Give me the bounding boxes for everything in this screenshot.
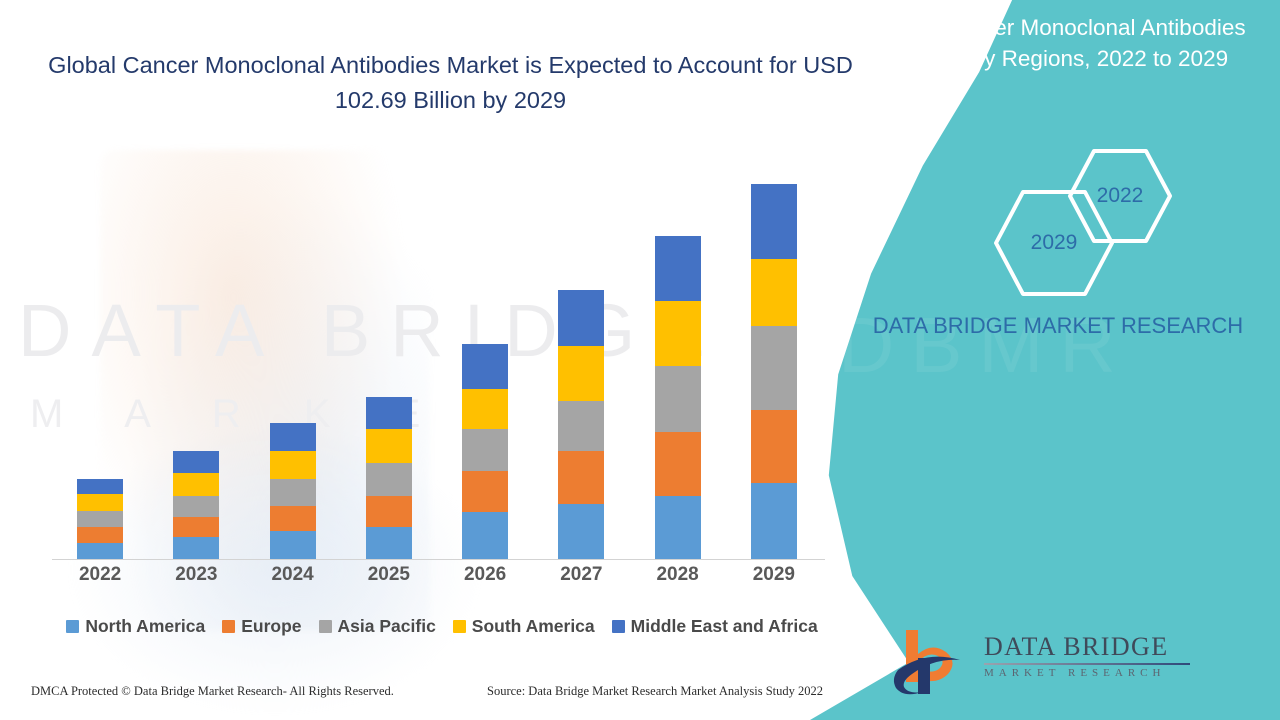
legend-swatch-icon: [612, 620, 625, 633]
hexagon-label-2022: 2022: [1066, 184, 1174, 208]
bar-segment: [270, 506, 316, 531]
chart-legend: North AmericaEuropeAsia PacificSouth Ame…: [52, 616, 832, 637]
bar-segment: [270, 479, 316, 506]
bar-segment: [655, 496, 701, 559]
legend-item[interactable]: South America: [453, 616, 595, 637]
legend-swatch-icon: [222, 620, 235, 633]
bar-segment: [558, 290, 604, 346]
chart-bars: [52, 160, 822, 559]
legend-item[interactable]: Middle East and Africa: [612, 616, 818, 637]
data-bridge-logo: DATA BRIDGE MARKET RESEARCH: [888, 624, 1218, 698]
stacked-bar: [462, 344, 508, 559]
bar-segment: [366, 463, 412, 496]
bar-segment: [462, 389, 508, 429]
bar-segment: [751, 184, 797, 259]
bar-column: [437, 160, 533, 559]
stacked-bar: [655, 236, 701, 559]
bar-segment: [751, 259, 797, 326]
bar-segment: [77, 494, 123, 511]
bar-column: [533, 160, 629, 559]
legend-item[interactable]: Asia Pacific: [319, 616, 436, 637]
x-axis-label: 2025: [341, 564, 437, 594]
legend-label: South America: [472, 616, 595, 637]
legend-label: Europe: [241, 616, 301, 637]
bar-segment: [366, 397, 412, 429]
bar-segment: [462, 512, 508, 559]
bar-segment: [655, 236, 701, 301]
x-axis-line: [52, 559, 825, 560]
bar-segment: [751, 326, 797, 410]
bar-column: [726, 160, 822, 559]
bar-segment: [655, 366, 701, 432]
logo-divider: [984, 663, 1190, 665]
bar-segment: [366, 496, 412, 527]
legend-swatch-icon: [66, 620, 79, 633]
bar-segment: [751, 483, 797, 559]
legend-label: Asia Pacific: [338, 616, 436, 637]
footer-source: Source: Data Bridge Market Research Mark…: [487, 684, 823, 699]
logo-title: DATA BRIDGE: [984, 632, 1214, 662]
footer: DMCA Protected © Data Bridge Market Rese…: [0, 684, 870, 708]
page-title: Global Cancer Monoclonal Antibodies Mark…: [28, 48, 873, 118]
stacked-bar: [558, 290, 604, 559]
hexagon-badge-2022: 2022: [1066, 148, 1174, 244]
x-axis-label: 2022: [52, 564, 148, 594]
x-axis-label: 2028: [630, 564, 726, 594]
bar-segment: [173, 473, 219, 496]
stacked-bar: [77, 479, 123, 559]
bar-segment: [77, 543, 123, 559]
legend-swatch-icon: [319, 620, 332, 633]
bar-segment: [270, 423, 316, 451]
bar-segment: [173, 517, 219, 537]
bar-segment: [173, 537, 219, 559]
bar-segment: [77, 511, 123, 527]
x-axis-label: 2024: [245, 564, 341, 594]
x-axis-label: 2023: [148, 564, 244, 594]
bar-segment: [558, 451, 604, 504]
x-axis-labels: 20222023202420252026202720282029: [52, 564, 822, 594]
logo-mark-icon: [888, 624, 974, 698]
bar-segment: [270, 531, 316, 559]
bar-segment: [558, 401, 604, 451]
bar-segment: [558, 346, 604, 401]
bar-segment: [655, 301, 701, 366]
legend-label: Middle East and Africa: [631, 616, 818, 637]
bar-column: [630, 160, 726, 559]
legend-label: North America: [85, 616, 205, 637]
bar-column: [341, 160, 437, 559]
bar-segment: [77, 479, 123, 494]
x-axis-label: 2027: [533, 564, 629, 594]
chart-plot-area: [52, 160, 822, 560]
panel-brand-name: DATA BRIDGE MARKET RESEARCH: [858, 310, 1258, 342]
bar-segment: [462, 429, 508, 471]
hexagon-badges: 2029 2022: [882, 148, 1242, 278]
panel-title: Global Cancer Monoclonal Antibodies Mark…: [858, 12, 1258, 74]
bar-column: [245, 160, 341, 559]
bar-segment: [173, 451, 219, 473]
bar-column: [52, 160, 148, 559]
bar-segment: [77, 527, 123, 543]
infographic-page: DATA BRIDGE M A R K E T R E S E A R C H …: [0, 0, 1280, 720]
bar-segment: [462, 471, 508, 512]
logo-subtitle: MARKET RESEARCH: [984, 667, 1214, 679]
bar-segment: [366, 527, 412, 559]
bar-segment: [173, 496, 219, 517]
legend-item[interactable]: Europe: [222, 616, 301, 637]
bar-segment: [462, 344, 508, 389]
bar-segment: [751, 410, 797, 483]
stacked-bar: [173, 451, 219, 559]
stacked-bar: [366, 397, 412, 559]
logo-text-block: DATA BRIDGE MARKET RESEARCH: [984, 632, 1214, 679]
stacked-bar-chart: 20222023202420252026202720282029: [52, 160, 822, 562]
right-panel: DBMR Global Cancer Monoclonal Antibodies…: [810, 0, 1280, 720]
bar-segment: [558, 504, 604, 559]
bar-segment: [270, 451, 316, 479]
footer-copyright: DMCA Protected © Data Bridge Market Rese…: [31, 684, 394, 699]
x-axis-label: 2029: [726, 564, 822, 594]
stacked-bar: [751, 184, 797, 559]
x-axis-label: 2026: [437, 564, 533, 594]
legend-item[interactable]: North America: [66, 616, 205, 637]
bar-segment: [655, 432, 701, 496]
legend-swatch-icon: [453, 620, 466, 633]
stacked-bar: [270, 423, 316, 559]
bar-column: [148, 160, 244, 559]
bar-segment: [366, 429, 412, 463]
